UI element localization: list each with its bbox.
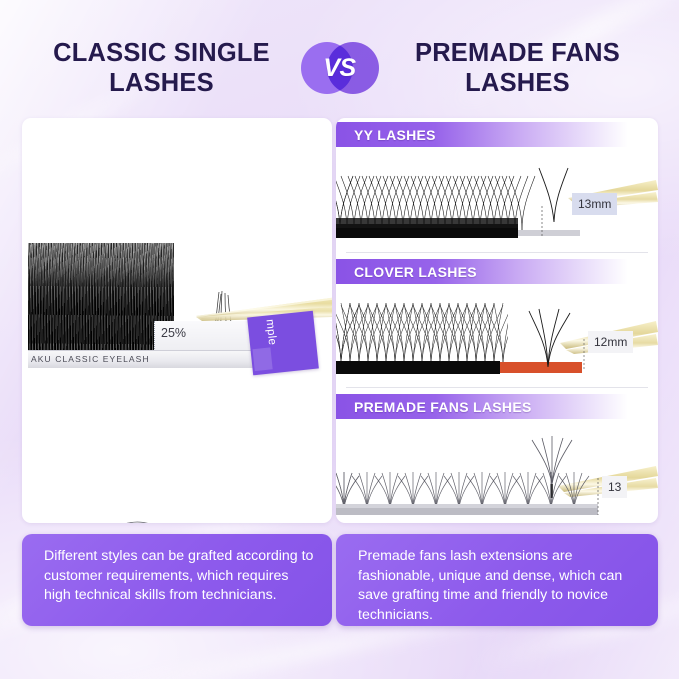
lash-tips bbox=[28, 243, 174, 289]
left-title: CLASSIC SINGLE LASHES bbox=[23, 38, 301, 98]
right-caption: Premade fans lash extensions are fashion… bbox=[336, 534, 658, 626]
premade-fans-illustration bbox=[336, 416, 658, 521]
loose-single-lashes-icon bbox=[36, 514, 332, 523]
measurement-label-yy: 13mm bbox=[572, 193, 617, 215]
vs-label: VS bbox=[323, 54, 355, 83]
section-clover-lashes: CLOVER LASHES bbox=[336, 253, 658, 388]
left-caption: Different styles can be grafted accordin… bbox=[22, 534, 332, 626]
measurement-label-premade: 13 bbox=[602, 476, 627, 498]
vs-badge: VS bbox=[301, 39, 379, 97]
premade-fans-card: YY LASHES bbox=[336, 118, 658, 523]
infographic-page: CLASSIC SINGLE LASHES VS PREMADE FANS LA… bbox=[0, 0, 679, 679]
section-yy-lashes: YY LASHES bbox=[336, 118, 658, 253]
section-title: YY LASHES bbox=[336, 127, 436, 143]
tag-shade bbox=[252, 347, 272, 371]
percent-label: 25% bbox=[161, 326, 186, 340]
sample-tag-text: mple bbox=[263, 319, 278, 346]
section-premade-fans-lashes: PREMADE FANS LASHES bbox=[336, 388, 658, 523]
section-banner: YY LASHES bbox=[336, 122, 628, 147]
classic-lashes-card: 25% AKU CLASSIC EYELASH mple bbox=[22, 118, 332, 523]
section-title: CLOVER LASHES bbox=[336, 264, 477, 280]
right-title: PREMADE FANS LASHES bbox=[379, 38, 657, 98]
measurement-label-clover: 12mm bbox=[588, 331, 633, 353]
header: CLASSIC SINGLE LASHES VS PREMADE FANS LA… bbox=[0, 28, 679, 108]
tray-brand-label: AKU CLASSIC EYELASH bbox=[31, 354, 150, 364]
section-title: PREMADE FANS LASHES bbox=[336, 399, 532, 415]
sample-tag: mple bbox=[247, 311, 319, 376]
